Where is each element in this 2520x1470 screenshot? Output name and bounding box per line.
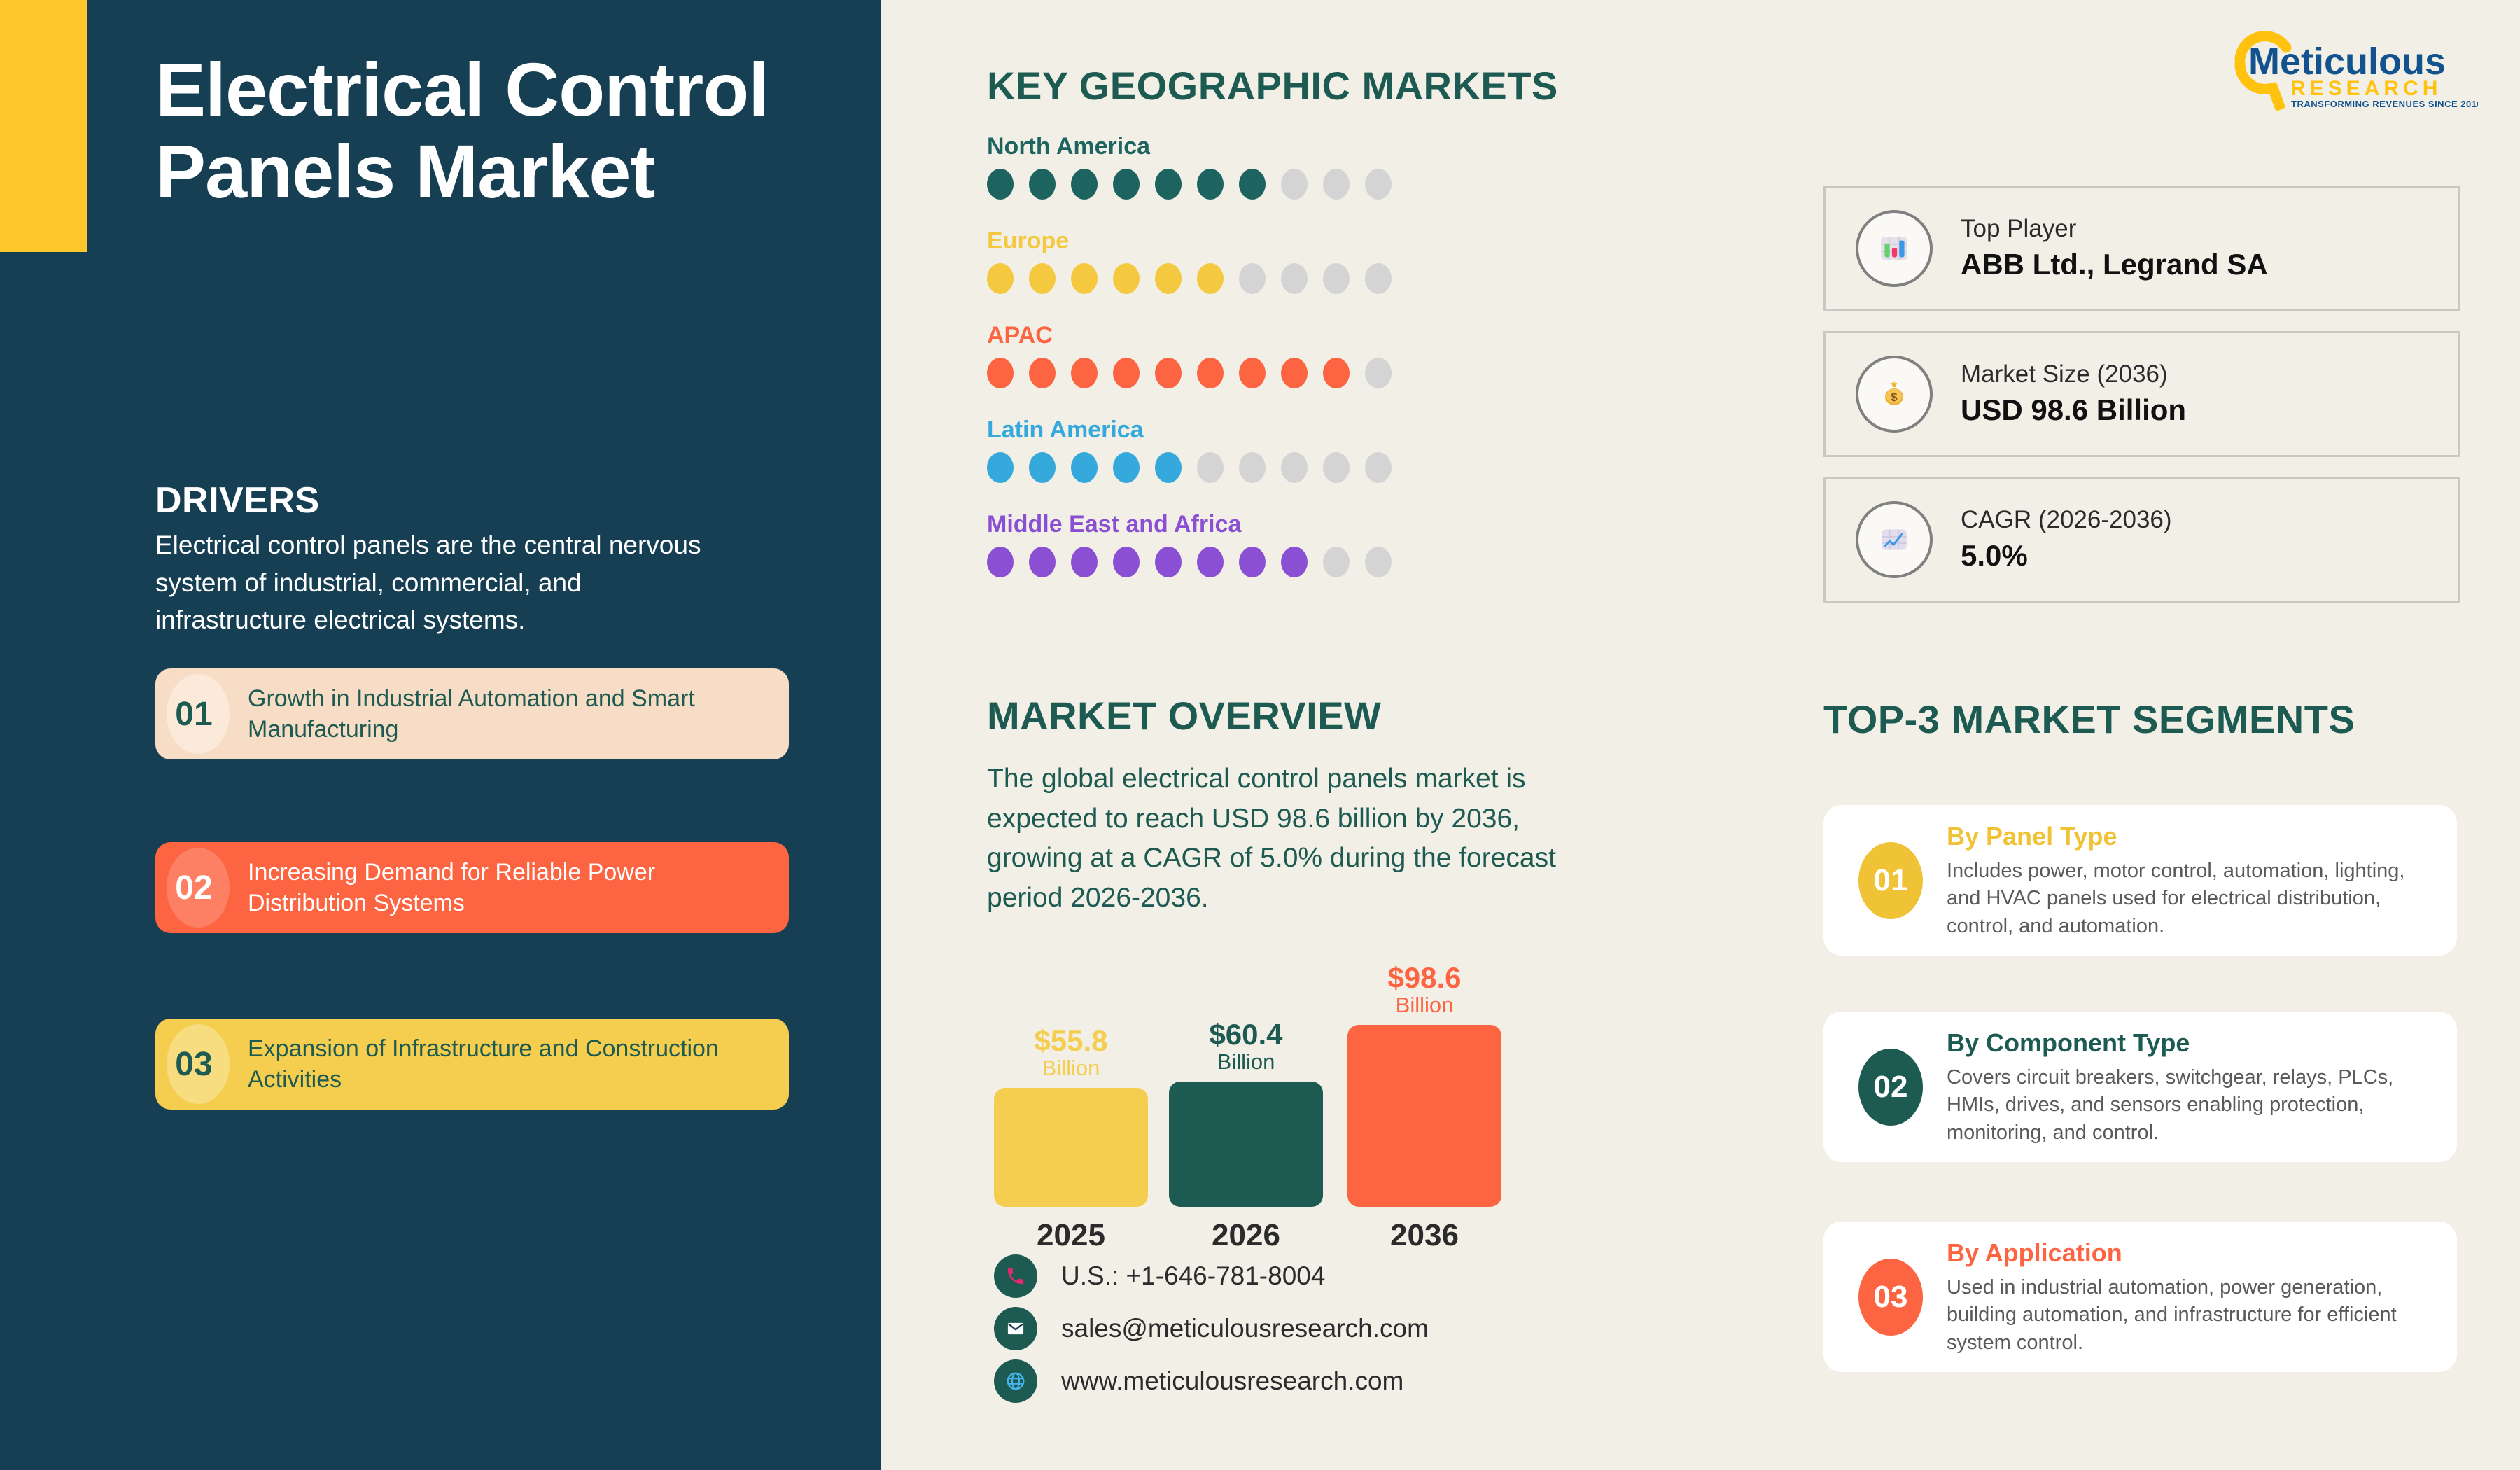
stat-body: CAGR (2026-2036) 5.0% <box>1961 503 2172 576</box>
stat-value: ABB Ltd., Legrand SA <box>1961 245 2268 285</box>
geo-dot-filled <box>987 263 1014 294</box>
geo-dot-row <box>987 358 1392 388</box>
segment-body: By Component Type Covers circuit breaker… <box>1947 1027 2457 1147</box>
bar-unit-label: Billion <box>1396 993 1454 1018</box>
geo-dot-filled <box>1281 358 1308 388</box>
segment-heading: By Panel Type <box>1947 820 2437 853</box>
segment-description: Covers circuit breakers, switchgear, rel… <box>1947 1064 2437 1147</box>
geo-region-apac: APAC <box>987 322 1392 388</box>
geo-dot-empty <box>1365 358 1392 388</box>
geo-dot-empty <box>1365 263 1392 294</box>
geo-dot-empty <box>1365 547 1392 577</box>
geo-dot-empty <box>1323 547 1350 577</box>
geo-region-label: North America <box>987 133 1392 160</box>
driver-number-badge: 03 <box>155 1018 232 1109</box>
svg-text:RESEARCH: RESEARCH <box>2290 77 2442 100</box>
driver-card-1[interactable]: 01 Growth in Industrial Automation and S… <box>155 668 789 759</box>
email-icon <box>994 1307 1037 1350</box>
meticulous-research-logo[interactable]: Meticulous RESEARCH TRANSFORMING REVENUE… <box>2212 28 2478 111</box>
segment-heading: By Application <box>1947 1237 2437 1270</box>
segment-heading: By Component Type <box>1947 1027 2437 1060</box>
stat-card-cagr: CAGR (2026-2036) 5.0% <box>1823 477 2460 603</box>
geo-region-label: APAC <box>987 322 1392 349</box>
contact-row-website[interactable]: www.meticulousresearch.com <box>994 1354 1429 1407</box>
svg-text:TRANSFORMING REVENUES SINCE: TRANSFORMING REVENUES SINCE 2010 <box>2291 99 2478 109</box>
page-title: Electrical Control Panels Market <box>155 49 785 212</box>
bar-category-label: 2026 <box>1169 1218 1323 1253</box>
contact-email-text: sales@meticulousresearch.com <box>1061 1314 1429 1343</box>
geo-dot-filled <box>1197 358 1224 388</box>
stat-value: 5.0% <box>1961 536 2172 576</box>
geo-dot-filled <box>1113 452 1140 483</box>
contact-phone-text: U.S.: +1-646-781-8004 <box>1061 1261 1325 1291</box>
geo-region-north-america: North America <box>987 133 1392 199</box>
geo-dot-filled <box>1071 547 1098 577</box>
geo-dot-filled <box>1155 263 1182 294</box>
bar-value-label: $55.8 <box>1034 1026 1107 1056</box>
segment-body: By Application Used in industrial automa… <box>1947 1237 2457 1357</box>
globe-icon <box>994 1359 1037 1403</box>
stat-body: Market Size (2036) USD 98.6 Billion <box>1961 358 2186 430</box>
geo-dot-filled <box>1155 452 1182 483</box>
geo-dot-empty <box>1323 263 1350 294</box>
geo-dot-filled <box>1197 547 1224 577</box>
geo-dot-filled <box>1113 169 1140 199</box>
geo-dot-empty <box>1323 452 1350 483</box>
segment-description: Includes power, motor control, automatio… <box>1947 857 2437 940</box>
bar-column-2036: $98.6 Billion <box>1347 963 1501 1207</box>
bar-chart-icon <box>1856 210 1933 287</box>
geo-dot-empty <box>1281 169 1308 199</box>
bar-rect <box>994 1088 1148 1207</box>
drivers-heading: DRIVERS <box>155 479 320 521</box>
geo-dot-filled <box>1113 547 1140 577</box>
geo-dot-row <box>987 452 1392 483</box>
geo-dot-filled <box>1197 169 1224 199</box>
geo-region-middle-east-and-africa: Middle East and Africa <box>987 511 1392 577</box>
bar-rect <box>1347 1025 1501 1207</box>
contact-row-phone[interactable]: U.S.: +1-646-781-8004 <box>994 1249 1429 1302</box>
segment-card-3[interactable]: 03 By Application Used in industrial aut… <box>1823 1221 2457 1372</box>
accent-bar <box>0 0 87 252</box>
stat-label: Market Size (2036) <box>1961 358 2186 391</box>
geo-dot-filled <box>1029 452 1056 483</box>
geo-region-label: Latin America <box>987 416 1392 444</box>
geo-dot-row <box>987 547 1392 577</box>
geo-dot-filled <box>987 452 1014 483</box>
market-size-bar-chart: $55.8 Billion 2025 $60.4 Billion 2026 $9… <box>987 959 1603 1253</box>
geo-dot-filled <box>1029 358 1056 388</box>
market-overview-title: MARKET OVERVIEW <box>987 693 1381 738</box>
geographic-markets-title: KEY GEOGRAPHIC MARKETS <box>987 63 1558 108</box>
geo-dot-empty <box>1239 452 1266 483</box>
stat-value: USD 98.6 Billion <box>1961 391 2186 430</box>
segment-body: By Panel Type Includes power, motor cont… <box>1947 820 2457 940</box>
driver-number: 02 <box>175 869 212 907</box>
stat-card-top-player: Top Player ABB Ltd., Legrand SA <box>1823 185 2460 311</box>
bar-column-2026: $60.4 Billion <box>1169 1020 1323 1207</box>
segment-card-2[interactable]: 02 By Component Type Covers circuit brea… <box>1823 1011 2457 1162</box>
driver-number: 01 <box>175 695 212 734</box>
drivers-description: Electrical control panels are the centra… <box>155 526 715 639</box>
geo-dot-filled <box>1029 263 1056 294</box>
left-panel: Electrical Control Panels Market DRIVERS… <box>0 0 881 1470</box>
phone-icon <box>994 1254 1037 1298</box>
geo-dot-filled <box>1071 452 1098 483</box>
geo-dot-empty <box>1281 452 1308 483</box>
segment-number-badge: 03 <box>1858 1259 1923 1336</box>
geo-dot-empty <box>1197 452 1224 483</box>
bar-value-label: $98.6 <box>1387 963 1461 993</box>
svg-text:Meticulous: Meticulous <box>2248 41 2446 83</box>
contact-row-email[interactable]: sales@meticulousresearch.com <box>994 1302 1429 1354</box>
segment-description: Used in industrial automation, power gen… <box>1947 1274 2437 1357</box>
bar-column-2025: $55.8 Billion <box>994 1026 1148 1207</box>
geo-dot-row <box>987 263 1392 294</box>
driver-label: Increasing Demand for Reliable Power Dis… <box>232 857 789 918</box>
market-overview-text: The global electrical control panels mar… <box>987 759 1617 918</box>
money-bag-icon: $ <box>1856 356 1933 433</box>
geo-region-label: Europe <box>987 227 1392 255</box>
geo-region-label: Middle East and Africa <box>987 511 1392 538</box>
geo-dot-filled <box>1239 169 1266 199</box>
geo-dot-filled <box>1029 547 1056 577</box>
geo-dot-filled <box>987 358 1014 388</box>
bar-category-label: 2036 <box>1347 1218 1501 1253</box>
contact-block: U.S.: +1-646-781-8004 sales@meticulousre… <box>994 1249 1429 1407</box>
bar-unit-label: Billion <box>1217 1049 1275 1074</box>
geo-dot-filled <box>1071 263 1098 294</box>
stat-label: CAGR (2026-2036) <box>1961 503 2172 536</box>
bar-rect <box>1169 1081 1323 1207</box>
geo-dot-empty <box>1365 169 1392 199</box>
bar-value-label: $60.4 <box>1209 1020 1282 1049</box>
driver-number-badge: 01 <box>155 668 232 759</box>
geo-dot-filled <box>1071 169 1098 199</box>
geo-dot-empty <box>1281 263 1308 294</box>
stat-label: Top Player <box>1961 212 2268 245</box>
stat-body: Top Player ABB Ltd., Legrand SA <box>1961 212 2268 285</box>
geo-region-latin-america: Latin America <box>987 416 1392 483</box>
geo-dot-empty <box>1239 263 1266 294</box>
geo-region-europe: Europe <box>987 227 1392 294</box>
trend-chart-icon <box>1856 501 1933 578</box>
geo-dot-empty <box>1323 169 1350 199</box>
driver-card-2[interactable]: 02 Increasing Demand for Reliable Power … <box>155 842 789 933</box>
geo-dot-filled <box>1155 358 1182 388</box>
driver-label: Expansion of Infrastructure and Construc… <box>232 1033 789 1095</box>
market-segments-title: TOP-3 MARKET SEGMENTS <box>1823 696 2355 742</box>
segment-number-badge: 02 <box>1858 1049 1923 1126</box>
contact-website-text: www.meticulousresearch.com <box>1061 1366 1403 1396</box>
geo-dot-filled <box>987 547 1014 577</box>
geo-dot-filled <box>1113 263 1140 294</box>
bar-category-label: 2025 <box>994 1218 1148 1253</box>
driver-number-badge: 02 <box>155 842 232 933</box>
geo-dot-filled <box>1239 358 1266 388</box>
geo-dot-filled <box>1071 358 1098 388</box>
segment-card-1[interactable]: 01 By Panel Type Includes power, motor c… <box>1823 805 2457 955</box>
geo-dot-filled <box>1197 263 1224 294</box>
driver-card-3[interactable]: 03 Expansion of Infrastructure and Const… <box>155 1018 789 1109</box>
geo-dot-filled <box>1029 169 1056 199</box>
geo-dot-row <box>987 169 1392 199</box>
geo-dot-filled <box>987 169 1014 199</box>
driver-number: 03 <box>175 1045 212 1084</box>
geo-dot-filled <box>1113 358 1140 388</box>
stat-card-market-size: $ Market Size (2036) USD 98.6 Billion <box>1823 331 2460 457</box>
geo-dot-filled <box>1155 169 1182 199</box>
geo-dot-filled <box>1323 358 1350 388</box>
geo-dot-filled <box>1239 547 1266 577</box>
svg-text:$: $ <box>1891 391 1898 404</box>
geo-dot-filled <box>1155 547 1182 577</box>
geo-dot-empty <box>1365 452 1392 483</box>
segment-number-badge: 01 <box>1858 842 1923 919</box>
geo-dot-filled <box>1281 547 1308 577</box>
driver-label: Growth in Industrial Automation and Smar… <box>232 683 789 745</box>
bar-unit-label: Billion <box>1042 1056 1100 1081</box>
